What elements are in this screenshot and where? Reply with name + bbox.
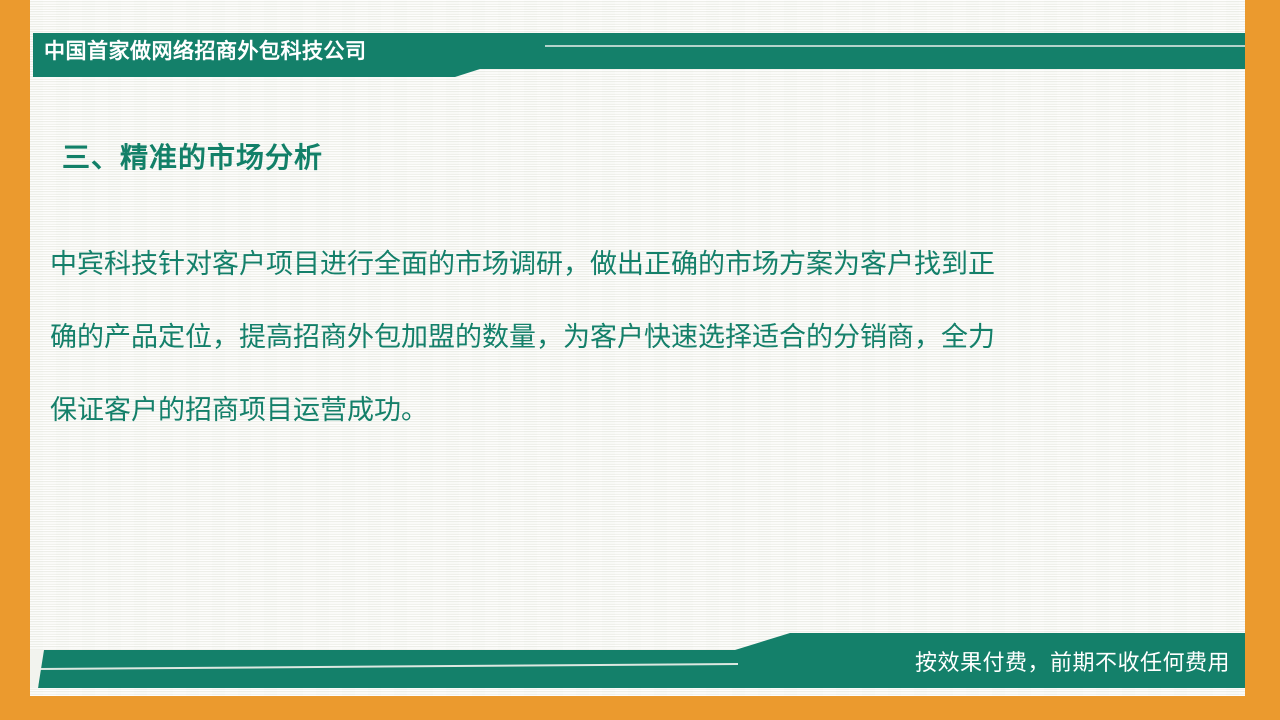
- body-paragraph: 中宾科技针对客户项目进行全面的市场调研，做出正确的市场方案为客户找到正 确的产品…: [50, 228, 1190, 447]
- body-line-2: 确的产品定位，提高招商外包加盟的数量，为客户快速选择适合的分销商，全力: [50, 301, 1190, 374]
- footer-slogan: 按效果付费，前期不收任何费用: [915, 649, 1230, 679]
- body-line-1: 中宾科技针对客户项目进行全面的市场调研，做出正确的市场方案为客户找到正: [50, 228, 1190, 301]
- header-title: 中国首家做网络招商外包科技公司: [44, 36, 367, 66]
- body-line-3: 保证客户的招商项目运营成功。: [50, 374, 1190, 447]
- slide-canvas: 中国首家做网络招商外包科技公司 三、精准的市场分析 中宾科技针对客户项目进行全面…: [0, 0, 1280, 720]
- page-title: 三、精准的市场分析: [62, 136, 323, 176]
